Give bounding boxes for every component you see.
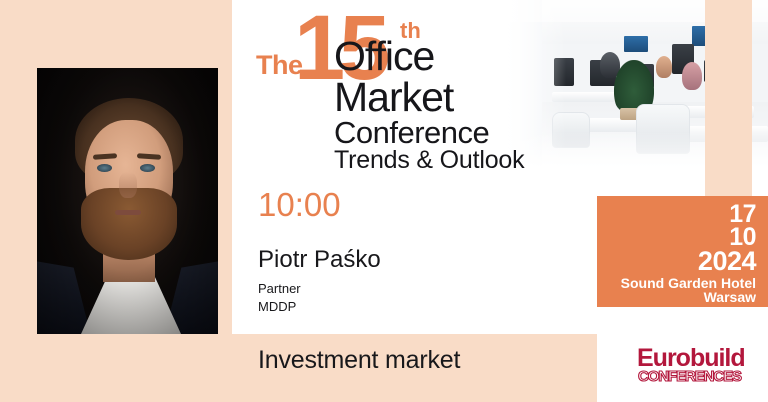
event-venue-city: Warsaw [704,290,756,305]
event-title-block: The 15 th Office Market Conference Trend… [256,10,546,170]
logo-sub-text: CONFERENCES [638,369,741,384]
photo-person [656,56,672,78]
event-year: 2024 [698,248,756,275]
photo-person [682,62,702,90]
title-line-conference: Conference [334,117,489,148]
speaker-name: Piotr Paśko [258,246,381,274]
photo-wall-screen [624,36,648,52]
conference-speaker-poster: The 15 th Office Market Conference Trend… [0,0,768,402]
photo-peach-stripe [705,0,752,196]
session-topic: Investment market [258,346,460,375]
speaker-portrait-photo [37,68,218,334]
title-line-office: Office [334,36,434,77]
speaker-company: MDDP [258,299,296,314]
portrait-vignette [37,68,218,334]
event-date-block: 17 10 2024 Sound Garden Hotel Warsaw [597,196,768,307]
eurobuild-conferences-logo: Eurobuild CONFERENCES [637,346,755,390]
title-line-market: Market [334,77,453,118]
session-time: 10:00 [258,186,341,224]
title-line-subtitle: Trends & Outlook [334,148,524,173]
speaker-role: Partner [258,281,301,296]
